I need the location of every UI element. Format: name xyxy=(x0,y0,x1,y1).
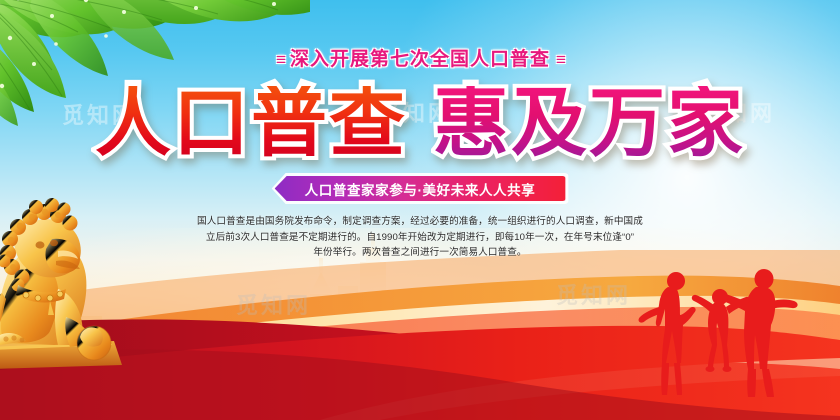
main-title: 人口普查 人口普查 惠及万家 惠及万家 xyxy=(0,86,840,162)
headline-banner: ≡深入开展第七次全国人口普查≡ xyxy=(0,44,840,71)
subtitle-ribbon-text: 人口普查家家参与·美好未来人人共享 xyxy=(305,179,536,199)
headline-text: 深入开展第七次全国人口普查 xyxy=(290,49,550,70)
guardian-lion-statue xyxy=(0,197,128,372)
main-title-segment-2-fill: 惠及万家 xyxy=(433,86,745,162)
body-line-3: 年份举行。两次普查之间进行一次简易人口普查。 xyxy=(185,245,655,261)
body-paragraph: 国人口普查是由国务院发布命令，制定调查方案，经过必要的准备，统一组织进行的人口调… xyxy=(185,214,655,261)
poster-canvas: 觅知网 觅知网 觅知网 觅知网 觅知网 ≡深入开展第七次全国人口普查≡ 人口普查… xyxy=(0,0,840,420)
main-title-segment-1: 人口普查 人口普查 xyxy=(95,86,407,162)
main-title-segment-2: 惠及万家 惠及万家 xyxy=(433,86,745,162)
main-title-segment-1-fill: 人口普查 xyxy=(95,86,407,162)
family-silhouette xyxy=(632,263,822,398)
body-line-1: 国人口普查是由国务院发布命令，制定调查方案，经过必要的准备，统一组织进行的人口调… xyxy=(185,214,655,230)
subtitle-ribbon: 人口普查家家参与·美好未来人人共享 xyxy=(275,176,566,201)
body-line-2: 立后前3次人口普查是不定期进行的。自1990年开始改为定期进行，即每10年一次，… xyxy=(185,230,655,246)
headline-right-decoration: ≡ xyxy=(550,50,570,69)
headline-left-decoration: ≡ xyxy=(270,50,290,69)
